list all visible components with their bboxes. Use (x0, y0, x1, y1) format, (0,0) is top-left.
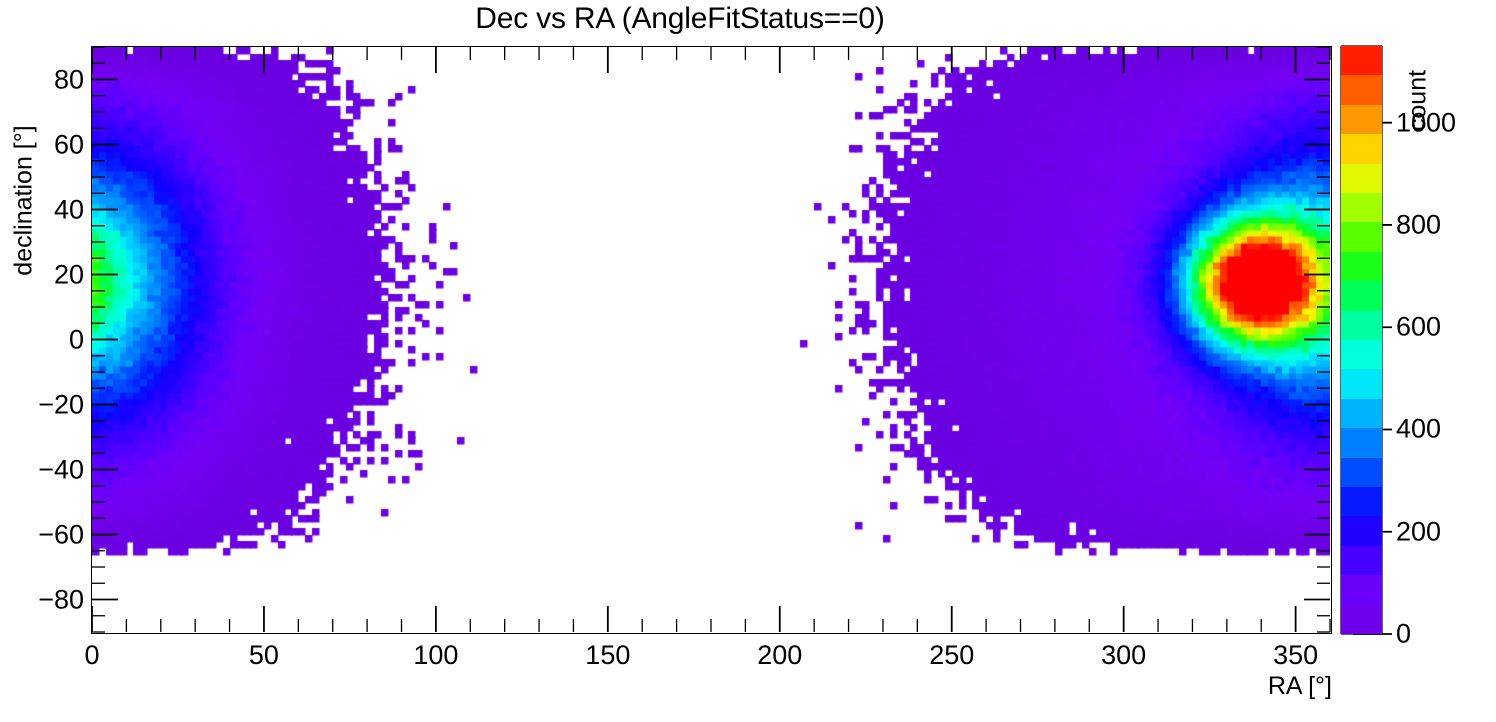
colorbar-band (1341, 105, 1382, 134)
colorbar-band (1341, 311, 1382, 340)
y-tick-label: −20 (38, 389, 84, 420)
colorbar-band (1341, 193, 1382, 222)
colorbar-band (1341, 75, 1382, 104)
x-tick-label: 0 (84, 640, 99, 671)
y-axis-title: declination [°] (10, 91, 39, 311)
heatmap-plot-area (92, 47, 1330, 632)
colorbar-tick-label: 400 (1396, 414, 1441, 445)
x-tick-label: 200 (757, 640, 802, 671)
colorbar-band (1341, 340, 1382, 369)
plot-frame (91, 46, 1332, 634)
y-tick-label: −80 (38, 584, 84, 615)
colorbar-tick-label: 200 (1396, 516, 1441, 547)
colorbar-band (1341, 369, 1382, 398)
y-tick-label: 20 (54, 259, 84, 290)
colorbar-band (1341, 222, 1382, 251)
y-tick-label: 60 (54, 129, 84, 160)
colorbar (1341, 46, 1382, 634)
colorbar-band (1341, 134, 1382, 163)
colorbar-tick-label: 600 (1396, 312, 1441, 343)
colorbar-band (1341, 487, 1382, 516)
y-tick-label: 40 (54, 194, 84, 225)
x-tick-label: 150 (585, 640, 630, 671)
x-tick-label: 100 (413, 640, 458, 671)
colorbar-tick-label: 0 (1396, 619, 1411, 650)
colorbar-tick-label: 800 (1396, 209, 1441, 240)
x-axis-title: RA [°] (1268, 672, 1332, 701)
y-tick-label: 0 (69, 324, 84, 355)
x-tick-label: 300 (1101, 640, 1146, 671)
colorbar-band (1341, 164, 1382, 193)
colorbar-band (1341, 428, 1382, 457)
chart-title: Dec vs RA (AngleFitStatus==0) (0, 2, 1360, 36)
x-tick-label: 250 (929, 640, 974, 671)
colorbar-band (1341, 458, 1382, 487)
colorbar-band (1341, 605, 1382, 634)
colorbar-band (1341, 546, 1382, 575)
chart-canvas: Dec vs RA (AngleFitStatus==0) 0501001502… (0, 0, 1496, 722)
colorbar-band (1341, 399, 1382, 428)
colorbar-band (1341, 252, 1382, 281)
colorbar-band (1341, 575, 1382, 604)
colorbar-band (1341, 516, 1382, 545)
x-tick-label: 50 (249, 640, 279, 671)
colorbar-band (1341, 46, 1382, 75)
y-tick-label: −60 (38, 519, 84, 550)
y-tick-label: 80 (54, 64, 84, 95)
y-tick-label: −40 (38, 454, 84, 485)
colorbar-title: count (1404, 31, 1433, 171)
colorbar-band (1341, 281, 1382, 310)
x-tick-label: 350 (1273, 640, 1318, 671)
